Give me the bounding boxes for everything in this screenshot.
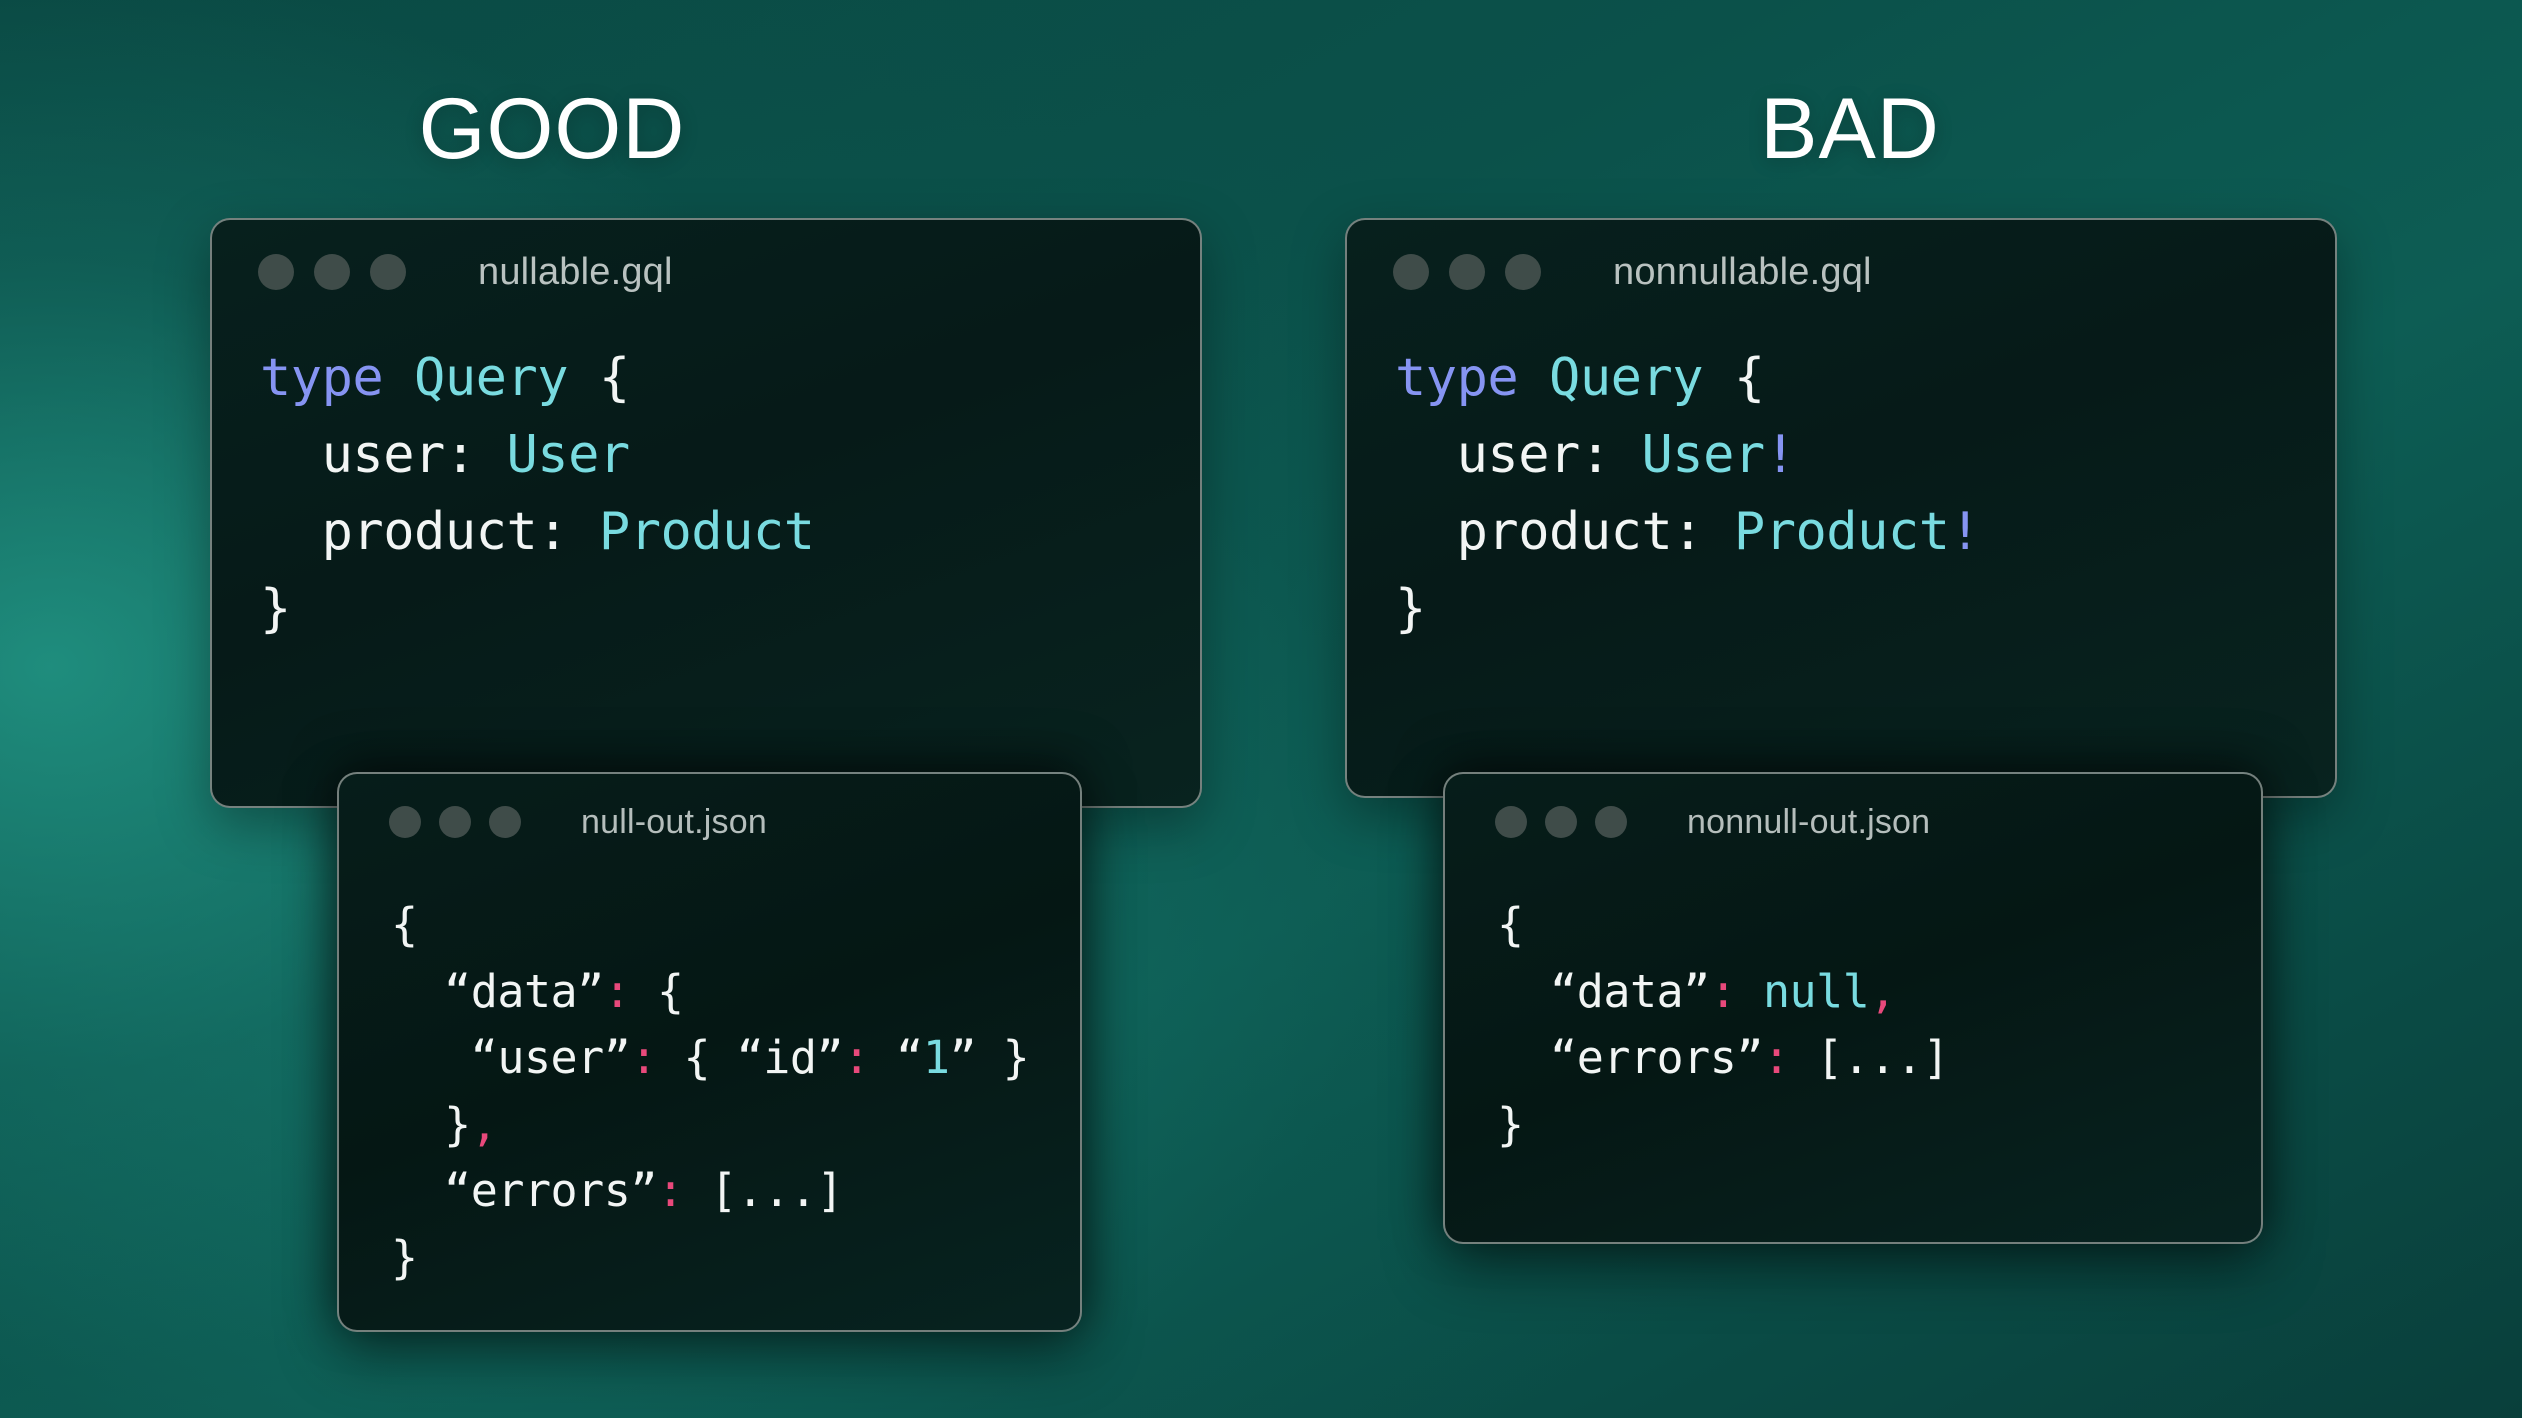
window-titlebar: nonnull-out.json: [1445, 774, 2261, 870]
code-token: :: [1763, 1031, 1790, 1084]
code-token: :: [1672, 502, 1703, 562]
code-token: ”: [949, 1031, 976, 1084]
code-line: {: [1497, 892, 2261, 959]
code-window-nullable-gql[interactable]: nullable.gql type Query { user: User pro…: [210, 218, 1202, 808]
code-token: {: [1497, 898, 1524, 951]
code-token: }: [391, 1231, 418, 1284]
code-token: [...]: [684, 1164, 844, 1217]
comparison-canvas: GOOD BAD nullable.gql type Query { user:…: [0, 0, 2522, 1418]
minimize-dot-icon[interactable]: [314, 254, 350, 290]
code-token: ,: [471, 1098, 498, 1151]
code-token: “user”: [391, 1031, 630, 1084]
code-token: [630, 965, 657, 1018]
code-token: user: [1395, 425, 1580, 485]
code-token: :: [537, 502, 568, 562]
code-token: Product: [1734, 502, 1950, 562]
code-line: {: [391, 892, 1080, 959]
code-block: { “data”: null, “errors”: [...]}: [1445, 870, 2261, 1158]
code-token: [1611, 425, 1642, 485]
code-token: {: [657, 965, 684, 1018]
window-controls: [389, 806, 521, 838]
code-token: [383, 348, 414, 408]
code-token: type: [260, 348, 383, 408]
code-line: user: User: [260, 417, 1200, 494]
code-block: type Query { user: User! product: Produc…: [1347, 324, 2335, 648]
code-token: “errors”: [391, 1164, 657, 1217]
code-line: product: Product: [260, 494, 1200, 571]
code-token: ,: [1869, 965, 1896, 1018]
window-titlebar: nonnullable.gql: [1347, 220, 2335, 324]
code-token: [...]: [1790, 1031, 1950, 1084]
code-token: :: [843, 1031, 870, 1084]
code-token: 1: [923, 1031, 950, 1084]
close-dot-icon[interactable]: [258, 254, 294, 290]
minimize-dot-icon[interactable]: [439, 806, 471, 838]
code-token: !: [1950, 502, 1981, 562]
code-token: [568, 502, 599, 562]
code-line: “errors”: [...]: [391, 1158, 1080, 1225]
code-token: !: [1765, 425, 1796, 485]
close-dot-icon[interactable]: [1495, 806, 1527, 838]
code-line: },: [391, 1092, 1080, 1159]
code-block: { “data”: { “user”: { “id”: “1” } }, “er…: [339, 870, 1080, 1292]
code-token: [476, 425, 507, 485]
code-token: [1703, 502, 1734, 562]
code-token: “: [896, 1031, 923, 1084]
code-token: }: [1497, 1098, 1524, 1151]
code-token: user: [260, 425, 445, 485]
code-line: “data”: {: [391, 959, 1080, 1026]
code-token: :: [630, 1031, 657, 1084]
code-token: :: [604, 965, 631, 1018]
code-token: product: [260, 502, 537, 562]
code-token: [1736, 965, 1763, 1018]
code-line: }: [391, 1225, 1080, 1292]
code-token: Query: [1549, 348, 1703, 408]
code-token: product: [1395, 502, 1672, 562]
code-token: }: [260, 579, 291, 639]
code-token: type: [1395, 348, 1518, 408]
code-token: [1518, 348, 1549, 408]
code-token: {: [391, 898, 418, 951]
code-line: type Query {: [1395, 340, 2335, 417]
maximize-dot-icon[interactable]: [1595, 806, 1627, 838]
code-line: product: Product!: [1395, 494, 2335, 571]
code-token: “data”: [391, 965, 604, 1018]
close-dot-icon[interactable]: [389, 806, 421, 838]
code-window-null-out-json[interactable]: null-out.json { “data”: { “user”: { “id”…: [337, 772, 1082, 1332]
column-heading-good: GOOD: [419, 86, 686, 172]
maximize-dot-icon[interactable]: [1505, 254, 1541, 290]
code-token: User: [1641, 425, 1764, 485]
maximize-dot-icon[interactable]: [489, 806, 521, 838]
code-line: “user”: { “id”: “1” }: [391, 1025, 1080, 1092]
code-token: }: [1395, 579, 1426, 639]
window-filename: nonnullable.gql: [1613, 251, 1872, 294]
code-token: Query: [414, 348, 568, 408]
code-token: User: [506, 425, 629, 485]
column-heading-bad: BAD: [1760, 86, 1940, 172]
window-titlebar: nullable.gql: [212, 220, 1200, 324]
code-window-nonnullable-gql[interactable]: nonnullable.gql type Query { user: User!…: [1345, 218, 2337, 798]
window-filename: nullable.gql: [478, 251, 673, 294]
code-token: Product: [599, 502, 815, 562]
code-token: {: [599, 348, 630, 408]
code-line: “errors”: [...]: [1497, 1025, 2261, 1092]
window-filename: null-out.json: [581, 803, 767, 842]
code-token: {: [1734, 348, 1765, 408]
minimize-dot-icon[interactable]: [1449, 254, 1485, 290]
code-token: “id”: [737, 1031, 843, 1084]
code-line: type Query {: [260, 340, 1200, 417]
code-token: :: [1710, 965, 1737, 1018]
code-line: }: [260, 571, 1200, 648]
code-token: :: [1580, 425, 1611, 485]
window-filename: nonnull-out.json: [1687, 803, 1930, 842]
code-token: null: [1763, 965, 1869, 1018]
code-token: “errors”: [1497, 1031, 1763, 1084]
code-token: “data”: [1497, 965, 1710, 1018]
code-token: }: [391, 1098, 471, 1151]
close-dot-icon[interactable]: [1393, 254, 1429, 290]
window-titlebar: null-out.json: [339, 774, 1080, 870]
minimize-dot-icon[interactable]: [1545, 806, 1577, 838]
code-token: :: [657, 1164, 684, 1217]
code-window-nonnull-out-json[interactable]: nonnull-out.json { “data”: null, “errors…: [1443, 772, 2263, 1244]
code-token: {: [657, 1031, 737, 1084]
code-block: type Query { user: User product: Product…: [212, 324, 1200, 648]
code-token: }: [976, 1031, 1029, 1084]
window-controls: [1393, 254, 1541, 290]
code-token: [870, 1031, 897, 1084]
code-line: }: [1497, 1092, 2261, 1159]
code-token: :: [445, 425, 476, 485]
code-line: }: [1395, 571, 2335, 648]
code-token: [1703, 348, 1734, 408]
window-controls: [1495, 806, 1627, 838]
code-token: [568, 348, 599, 408]
window-controls: [258, 254, 406, 290]
code-line: user: User!: [1395, 417, 2335, 494]
maximize-dot-icon[interactable]: [370, 254, 406, 290]
code-line: “data”: null,: [1497, 959, 2261, 1026]
